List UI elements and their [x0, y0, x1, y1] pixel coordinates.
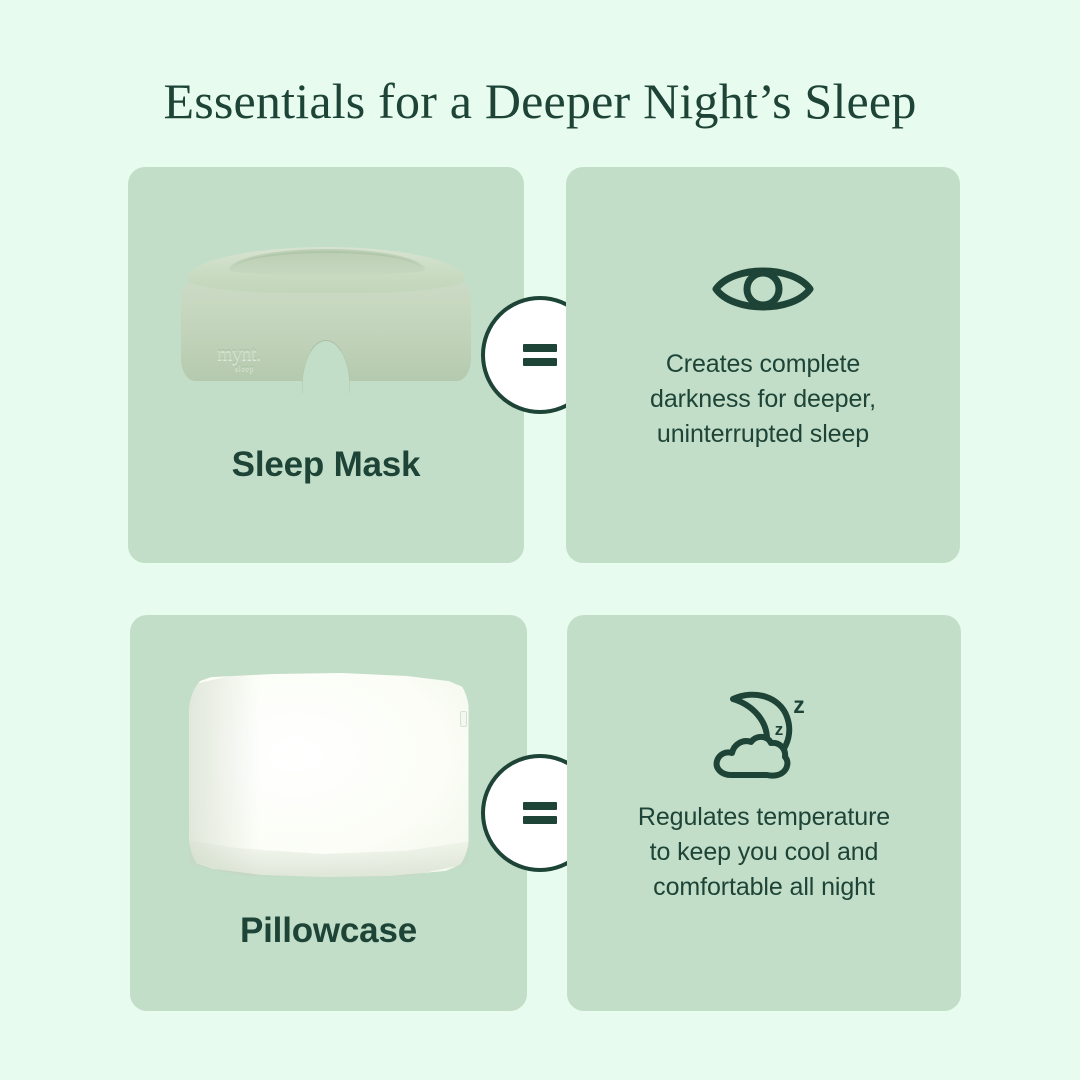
infographic-canvas: Essentials for a Deeper Night’s Sleep my… [0, 0, 1080, 1080]
benefit-text-sleep-mask: Creates complete darkness for deeper, un… [566, 347, 960, 452]
zzz-large: z [793, 692, 805, 718]
zzz-small: z [775, 720, 784, 739]
benefit-line: Regulates temperature [567, 800, 961, 835]
benefit-line: comfortable all night [567, 870, 961, 905]
product-label-sleep-mask: Sleep Mask [128, 445, 524, 485]
page-title: Essentials for a Deeper Night’s Sleep [0, 72, 1080, 130]
product-card-pillowcase: Pillowcase [130, 615, 527, 1011]
benefit-card-pillowcase: z z Regulates temperature to keep you co… [567, 615, 961, 1011]
benefit-icon-wrap-1 [566, 259, 960, 319]
benefit-card-sleep-mask: Creates complete darkness for deeper, un… [566, 167, 960, 563]
benefit-line: uninterrupted sleep [566, 417, 960, 452]
benefit-line: to keep you cool and [567, 835, 961, 870]
eye-icon [711, 259, 815, 319]
benefit-text-pillowcase: Regulates temperature to keep you cool a… [567, 800, 961, 905]
benefit-line: darkness for deeper, [566, 382, 960, 417]
moon-cloud-zzz-icon: z z [709, 687, 819, 783]
equals-icon [523, 344, 557, 366]
pillowcase-brand-tag [460, 711, 467, 727]
sleep-mask-image: mynt. sleep [181, 239, 471, 389]
pillowcase-image [189, 673, 469, 877]
pillowcase-artwork [130, 673, 527, 903]
brand-wordmark: mynt. [217, 343, 261, 365]
equals-icon [523, 802, 557, 824]
sleep-mask-brand-embossing: mynt. sleep [217, 344, 261, 373]
product-label-pillowcase: Pillowcase [130, 911, 527, 951]
benefit-line: Creates complete [566, 347, 960, 382]
brand-subtext: sleep [235, 365, 261, 373]
benefit-icon-wrap-2: z z [567, 687, 961, 783]
product-card-sleep-mask: mynt. sleep Sleep Mask [128, 167, 524, 563]
sleep-mask-artwork: mynt. sleep [128, 239, 524, 439]
